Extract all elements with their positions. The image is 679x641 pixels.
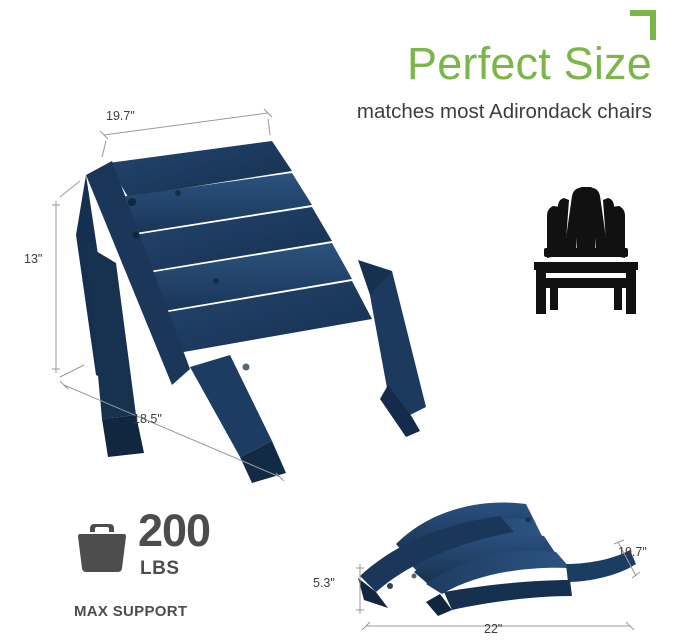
max-support-value: 200 [138, 508, 210, 553]
ottoman-main-illustration [40, 85, 460, 485]
dimension-depth: 18.5" [133, 412, 162, 426]
weight-kettlebell-icon [74, 520, 130, 576]
corner-bracket-accent-icon [630, 10, 656, 40]
max-support-caption: MAX SUPPORT [74, 603, 274, 620]
dimension-folded-depth: 19.7" [618, 545, 647, 559]
ottoman-folded-illustration [330, 480, 650, 630]
adirondack-chair-silhouette-icon [520, 178, 650, 338]
max-support-unit: LBS [140, 558, 180, 580]
max-support-block: 200 LBS MAX SUPPORT [74, 508, 274, 628]
dimension-folded-height: 5.3" [313, 576, 335, 590]
page-title: Perfect Size [332, 40, 652, 87]
dimension-folded-width: 22" [484, 622, 502, 636]
product-infographic: Perfect Size matches most Adirondack cha… [0, 0, 679, 641]
dimension-top-width: 19.7" [106, 109, 135, 123]
dimension-height: 13" [24, 252, 42, 266]
